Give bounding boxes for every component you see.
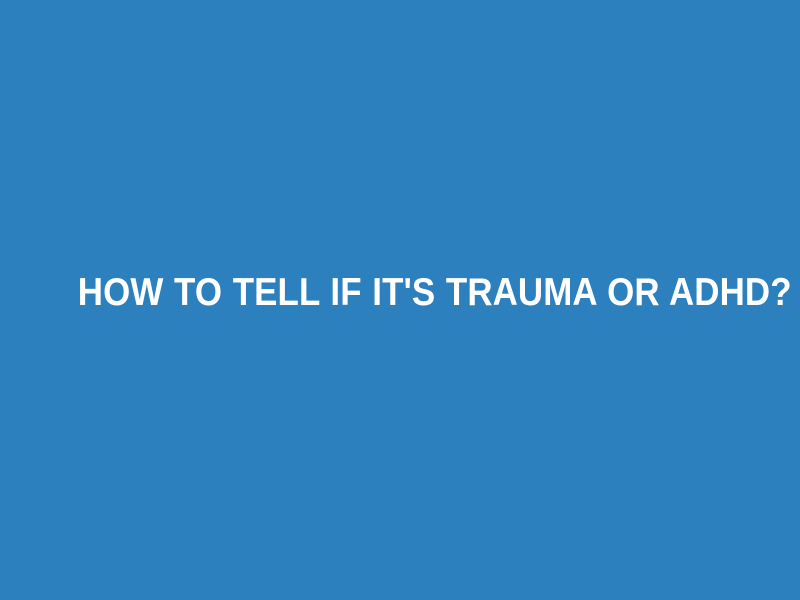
page-title: How to Tell if It's Trauma or ADHD?	[78, 271, 722, 315]
featured-image-banner: How to Tell if It's Trauma or ADHD?	[0, 0, 800, 600]
banner-title-container: How to Tell if It's Trauma or ADHD?	[0, 0, 800, 600]
